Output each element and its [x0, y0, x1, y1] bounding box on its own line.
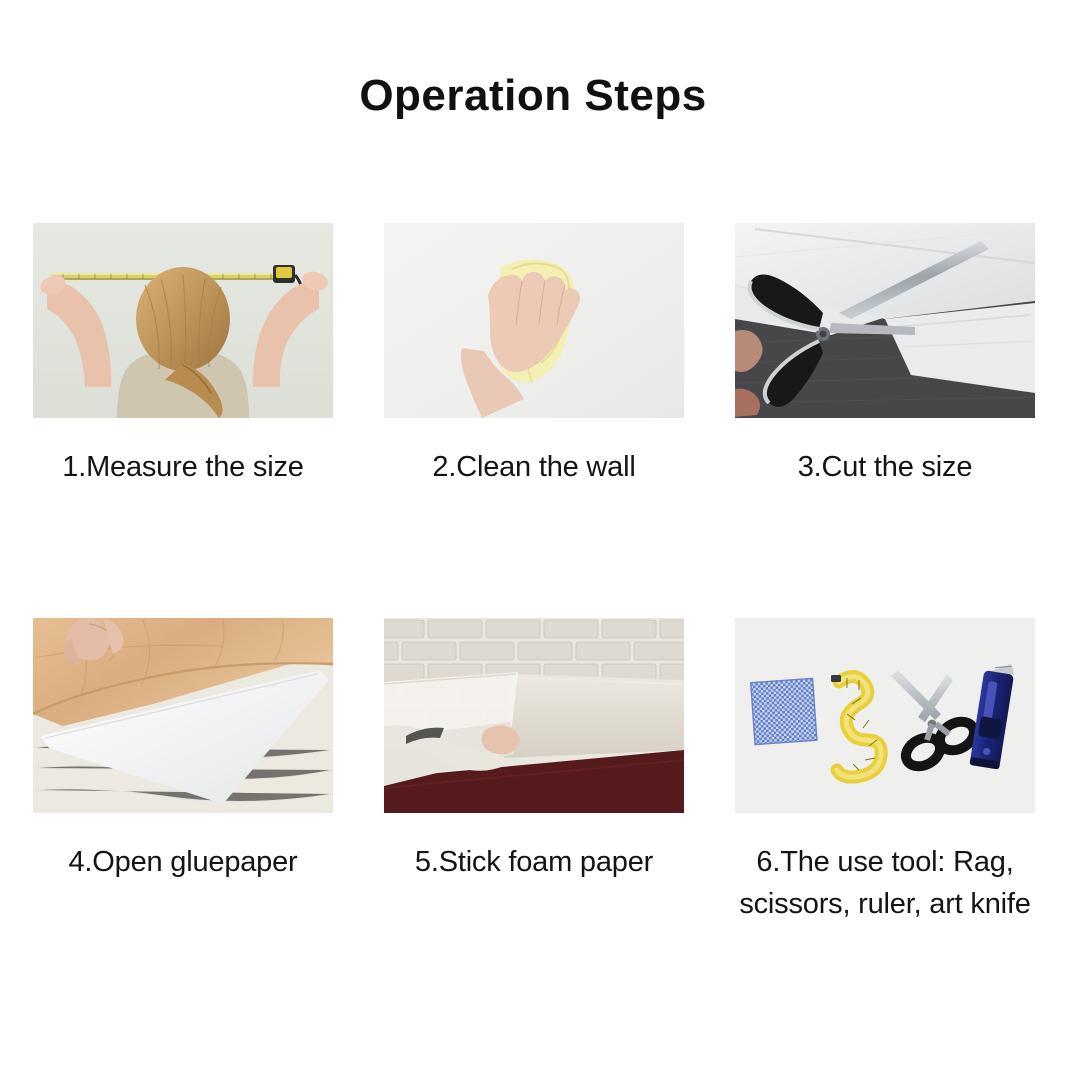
- row-spacer: [735, 488, 1035, 618]
- step-cell-2: 2.Clean the wall: [384, 223, 684, 488]
- row-spacer: [384, 488, 684, 618]
- step-cell-1: 1.Measure the size: [33, 223, 333, 488]
- cut-the-size-photo: [735, 223, 1035, 418]
- stick-foam-paper-illustration: [384, 618, 684, 813]
- open-gluepaper-illustration: [33, 618, 333, 813]
- step-caption-4: 4.Open gluepaper: [33, 841, 333, 883]
- step-caption-6: 6.The use tool: Rag, scissors, ruler, ar…: [735, 841, 1035, 925]
- step-caption-5: 5.Stick foam paper: [384, 841, 684, 883]
- operation-steps-grid: 1.Measure the size: [33, 223, 1035, 925]
- cut-the-size-illustration: [735, 223, 1035, 418]
- step-cell-3: 3.Cut the size: [735, 223, 1035, 488]
- stick-foam-paper-photo: [384, 618, 684, 813]
- step-cell-4: 4.Open gluepaper: [33, 618, 333, 925]
- open-gluepaper-photo: [33, 618, 333, 813]
- measure-the-size-illustration: [33, 223, 333, 418]
- measure-the-size-photo: [33, 223, 333, 418]
- step-caption-2: 2.Clean the wall: [384, 446, 684, 488]
- use-tool-photo: [735, 618, 1035, 813]
- rag-item: [751, 678, 817, 744]
- row-spacer: [33, 488, 333, 618]
- clean-the-wall-illustration: [384, 223, 684, 418]
- page-title: Operation Steps: [0, 72, 1066, 120]
- step-cell-5: 5.Stick foam paper: [384, 618, 684, 925]
- step-caption-1: 1.Measure the size: [33, 446, 333, 488]
- step-caption-3: 3.Cut the size: [735, 446, 1035, 488]
- clean-the-wall-photo: [384, 223, 684, 418]
- step-cell-6: 6.The use tool: Rag, scissors, ruler, ar…: [735, 618, 1035, 925]
- use-tool-illustration: [735, 618, 1035, 813]
